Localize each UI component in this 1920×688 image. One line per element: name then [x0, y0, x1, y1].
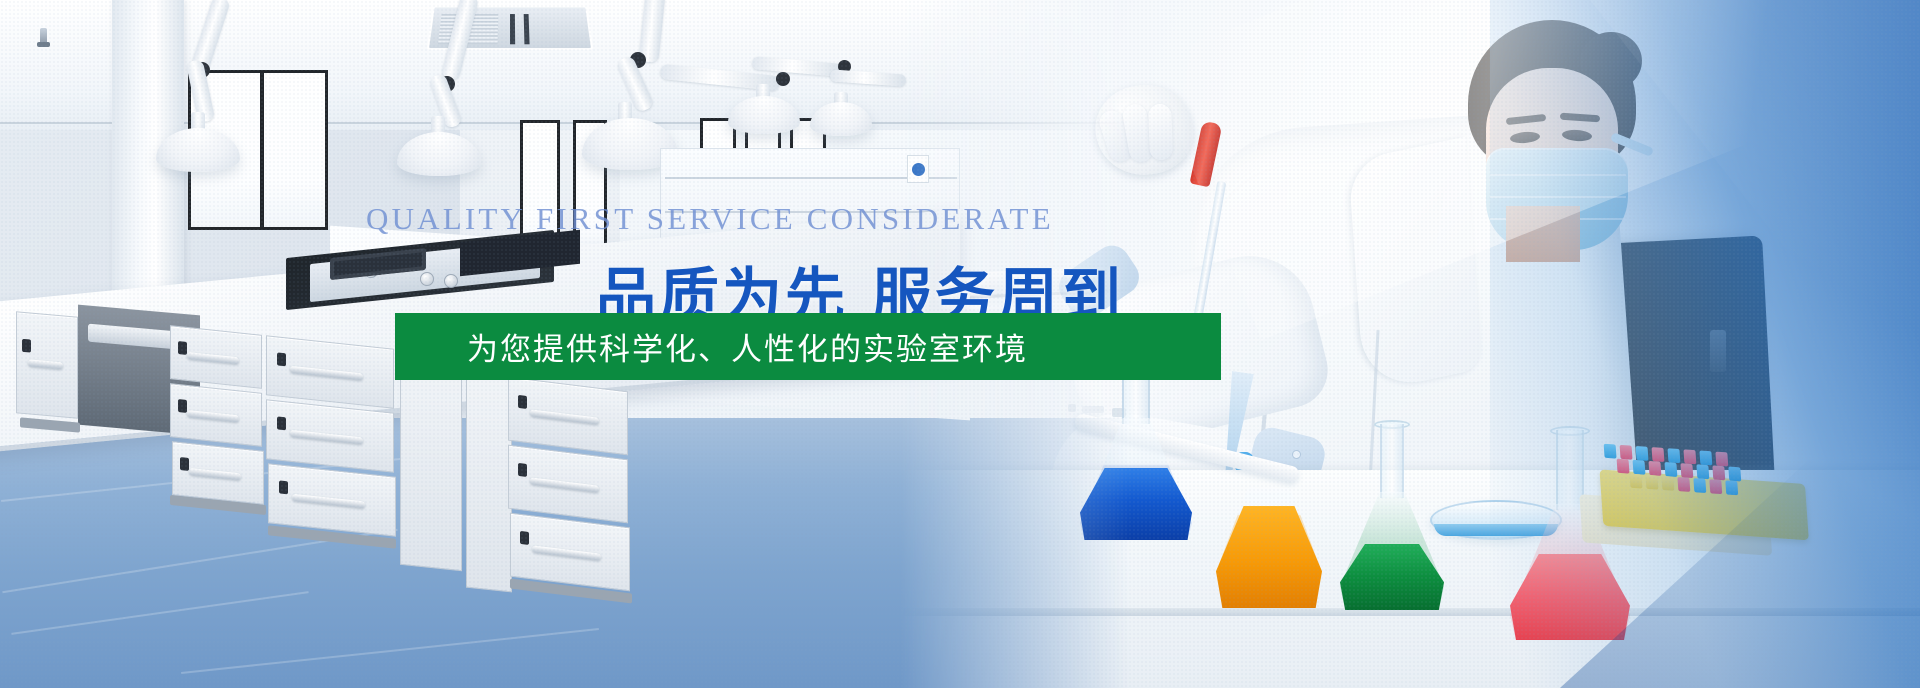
pipette-tip-item — [1696, 464, 1709, 479]
flask-liquid — [1216, 506, 1322, 608]
pipette-tip-item — [1645, 475, 1658, 490]
window-mullion — [260, 70, 264, 230]
drawer-lock-icon — [178, 399, 187, 413]
drawer — [172, 441, 264, 505]
pipette-tip-item — [1728, 467, 1741, 482]
pipette-tip-item — [1661, 476, 1674, 491]
pipette-tip-item — [1636, 446, 1649, 461]
erlenmeyer-flask-green — [1340, 424, 1444, 610]
pipette-tip-item — [1667, 448, 1680, 463]
drawer-handle — [292, 493, 365, 508]
erlenmeyer-flask-blue — [1080, 360, 1192, 540]
chair-lever — [1710, 330, 1726, 372]
pipette-tip-item — [1677, 477, 1690, 492]
drawer-handle — [290, 365, 363, 380]
pipette-tip-rack — [1598, 443, 1843, 536]
pipette-tip-item — [1715, 452, 1728, 467]
cabinet-side-panel — [466, 366, 512, 593]
pipette-tip-item — [1693, 478, 1706, 493]
pipette-tip-item — [1680, 463, 1693, 478]
flask-neck — [1380, 424, 1404, 498]
drawer-handle — [290, 429, 363, 444]
mask-pleat — [1490, 174, 1626, 176]
drawer-handle — [532, 545, 600, 560]
pipette-tip-item — [1699, 450, 1712, 465]
pipette-tip-item — [1648, 461, 1661, 476]
cabinet-handle — [28, 359, 63, 369]
drawer-lock-icon — [279, 481, 288, 495]
hero-banner: QUALITY FIRST SERVICE CONSIDERATE 品质为先 服… — [0, 0, 1920, 688]
drawer-handle — [187, 352, 239, 364]
banner-eyebrow-english: QUALITY FIRST SERVICE CONSIDERATE — [366, 201, 1026, 237]
sprinkler-head-icon — [40, 28, 47, 44]
drawer-handle — [530, 477, 598, 492]
pipette-tip-item — [1725, 480, 1738, 495]
service-knob — [444, 274, 458, 288]
neck — [1506, 206, 1580, 262]
scientist-head — [1460, 20, 1640, 235]
pipette-tip-item — [1620, 445, 1633, 460]
pipette-tip-item — [1633, 460, 1646, 475]
drawer-lock-icon — [277, 353, 286, 367]
drawer-handle — [530, 409, 598, 424]
pipette-tip-item — [1683, 449, 1696, 464]
drawer — [170, 383, 262, 447]
cabinet-left — [16, 311, 78, 418]
drawer-handle — [189, 468, 241, 480]
pipette-tip-item — [1709, 479, 1722, 494]
drawer-handle — [187, 410, 239, 422]
banner-subtitle-bar: 为您提供科学化、人性化的实验室环境 — [395, 313, 1221, 380]
pipette-tip-item — [1604, 444, 1617, 459]
service-knob — [420, 272, 434, 286]
cuff-button — [1292, 450, 1301, 459]
drawer-lock-icon — [277, 417, 286, 431]
pipette-tip-item — [1617, 459, 1630, 474]
pipette-tip-item — [1652, 447, 1665, 462]
lamp-joint — [776, 72, 790, 86]
flask-liquid — [1510, 554, 1630, 640]
glove-finger — [1148, 104, 1173, 161]
cabinet-side-panel — [400, 349, 462, 572]
drawer-lock-icon — [178, 341, 187, 355]
drawer-lock-icon — [520, 531, 529, 545]
mask-pleat — [1490, 196, 1626, 198]
drawer-lock-icon — [518, 463, 527, 477]
drawer-lock-icon — [518, 395, 527, 409]
cabinet-lock-icon — [22, 339, 31, 353]
pipette-tip-item — [1664, 462, 1677, 477]
flask-liquid — [1080, 468, 1192, 540]
bench-debris — [1068, 404, 1076, 412]
drawer-lock-icon — [180, 457, 189, 471]
banner-subtitle-text: 为您提供科学化、人性化的实验室环境 — [467, 324, 1028, 369]
drawer — [170, 325, 262, 389]
pipette-tip-item — [1712, 465, 1725, 480]
erlenmeyer-flask-orange — [1216, 488, 1322, 608]
pipette-tip-item — [1630, 474, 1643, 489]
